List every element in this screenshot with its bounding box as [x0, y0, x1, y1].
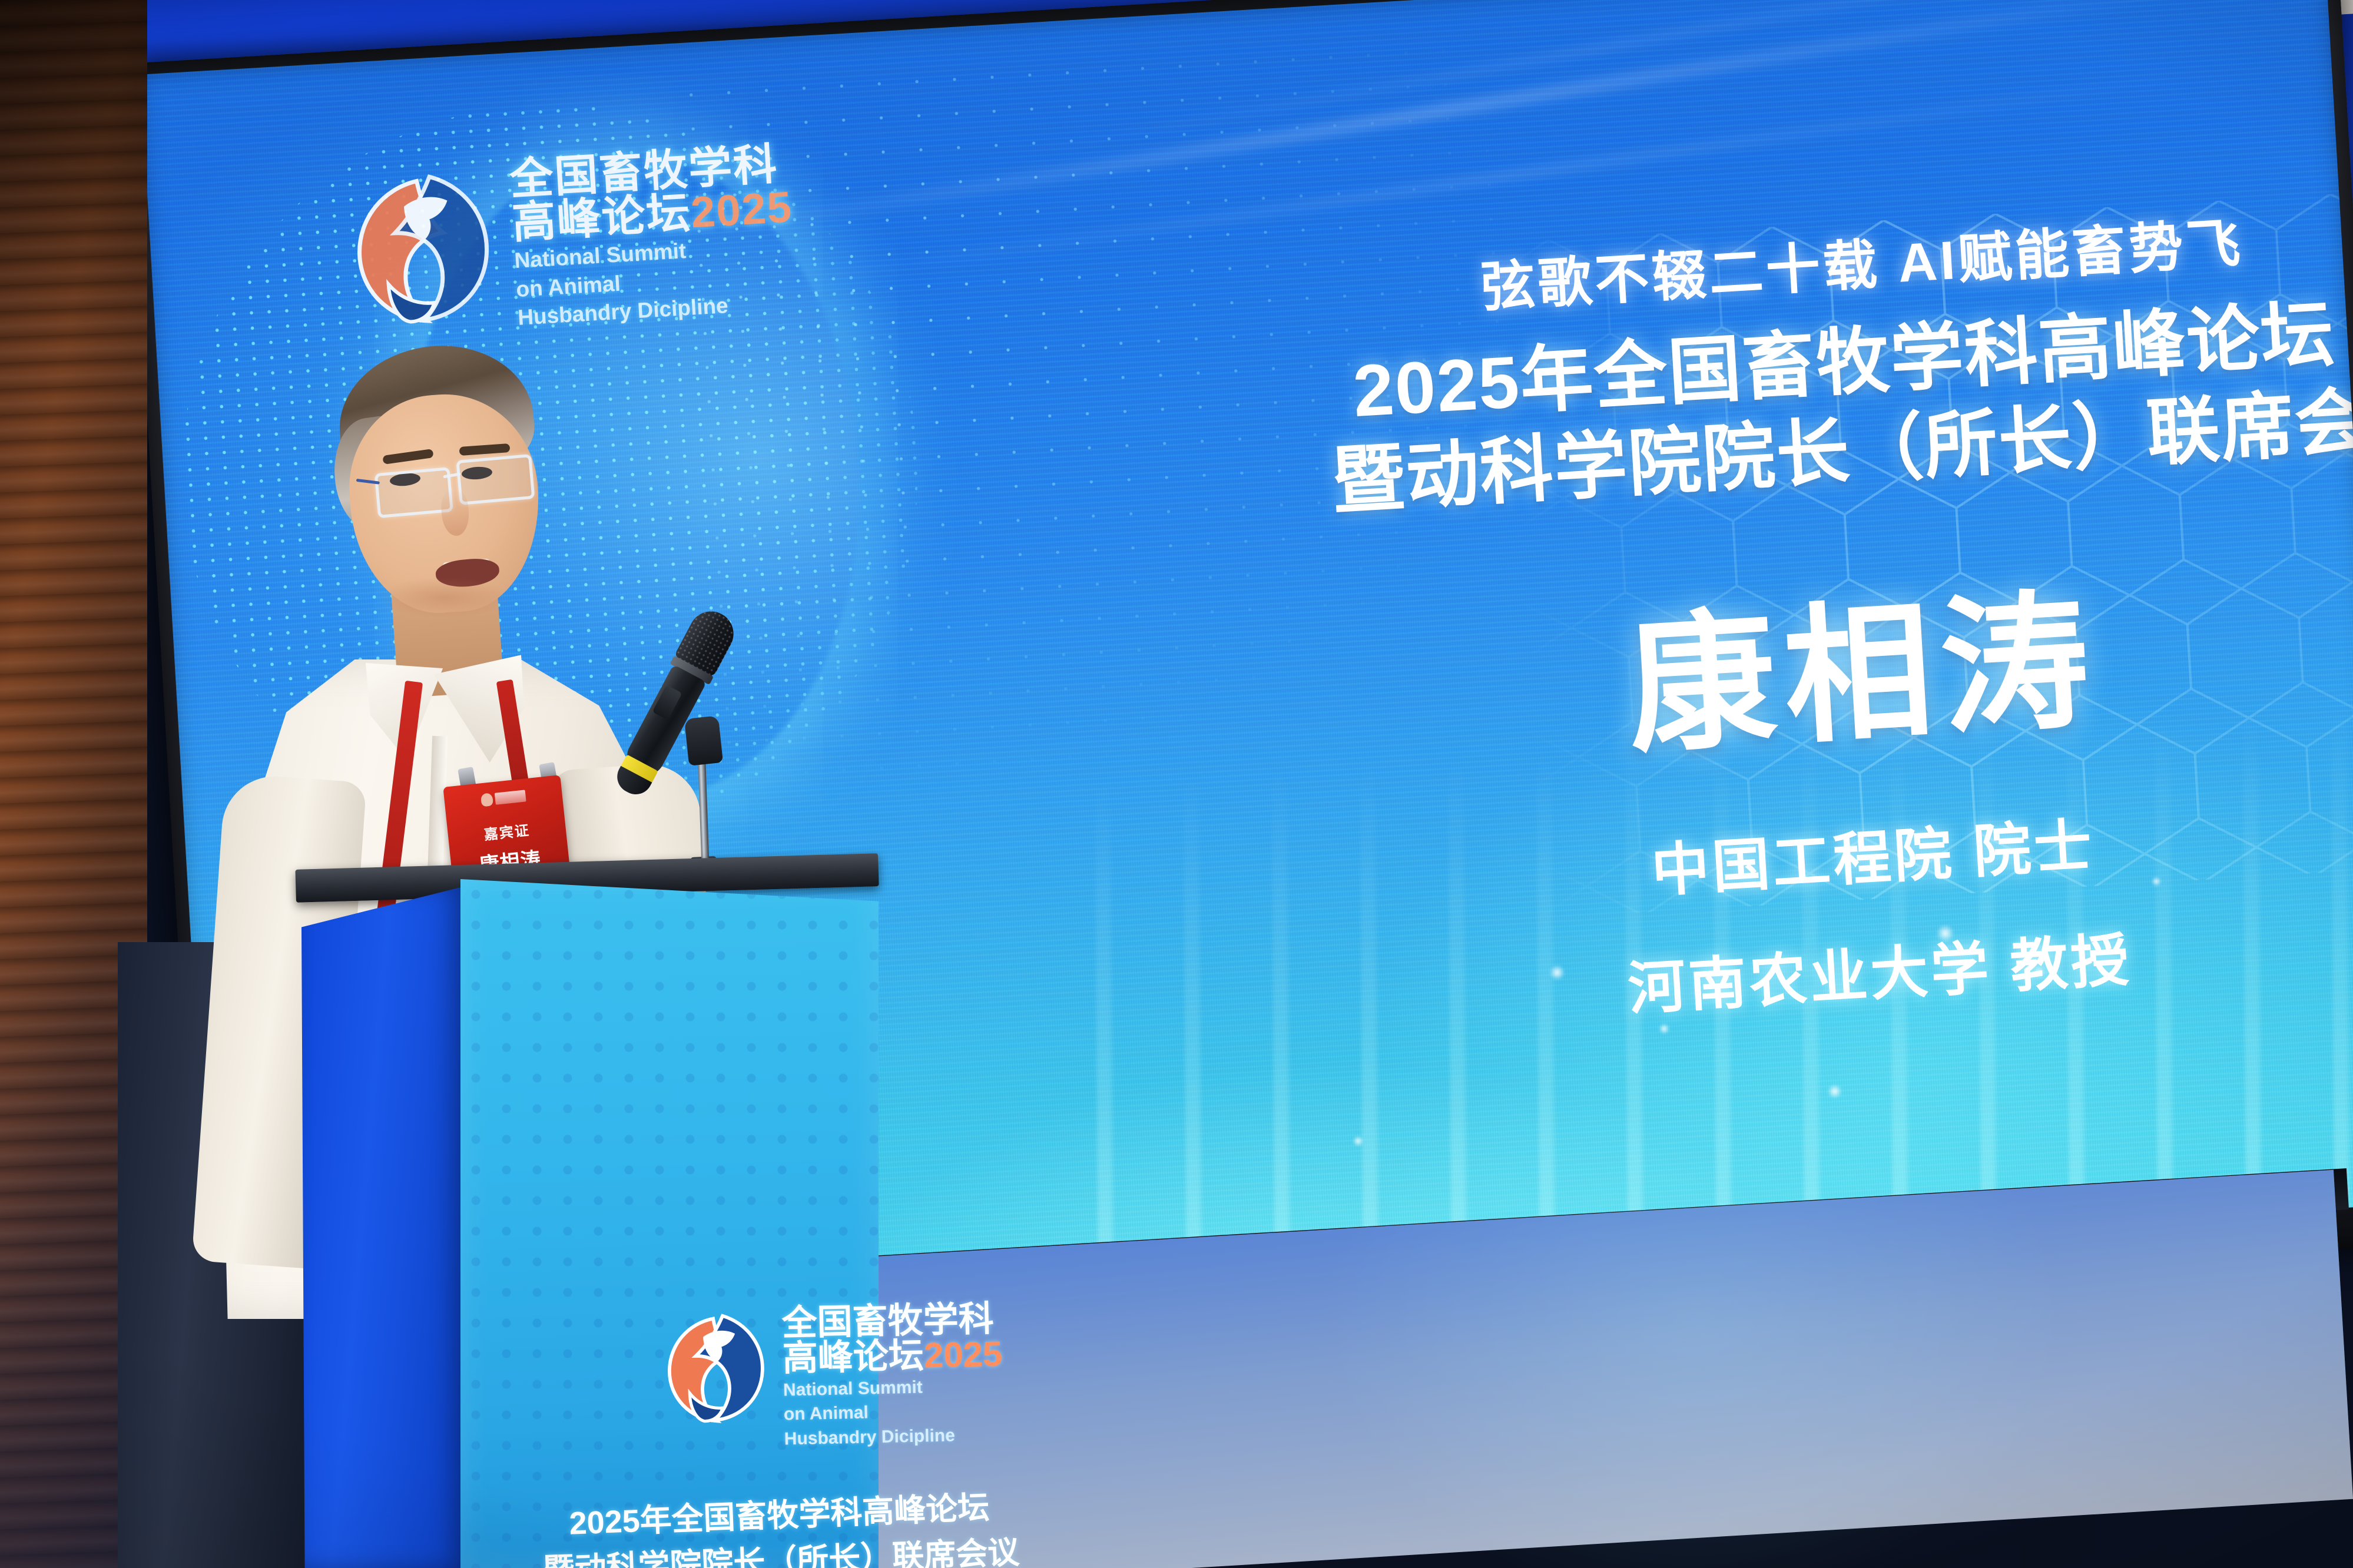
eyeglass-lens-right — [456, 454, 535, 505]
podium-logo-year: 2025 — [923, 1334, 1003, 1375]
badge-logo-icon — [443, 781, 563, 816]
summit-logo-icon — [658, 1300, 773, 1438]
speaker-chin-shadow — [377, 577, 512, 618]
podium-logo-en-line1: National Summit — [783, 1375, 1003, 1401]
podium: 全国畜牧学科 高峰论坛2025 National Summit on Anima… — [306, 874, 1042, 1568]
podium-logo-en-line2: on Animal — [784, 1400, 1004, 1425]
podium-side-panel — [301, 886, 465, 1568]
event-logo-on-podium: 全国畜牧学科 高峰论坛2025 National Summit on Anima… — [658, 1294, 1050, 1479]
podium-logo-cn-line2: 高峰论坛2025 — [782, 1337, 1003, 1377]
podium-logo-text: 全国畜牧学科 高峰论坛2025 National Summit on Anima… — [781, 1295, 1005, 1450]
photo-scene: 全国畜牧学科 高峰论坛2025 National Summit on Anima… — [0, 0, 2353, 1568]
podium-logo-en-line3: Husbandry Dicipline — [784, 1424, 1004, 1449]
